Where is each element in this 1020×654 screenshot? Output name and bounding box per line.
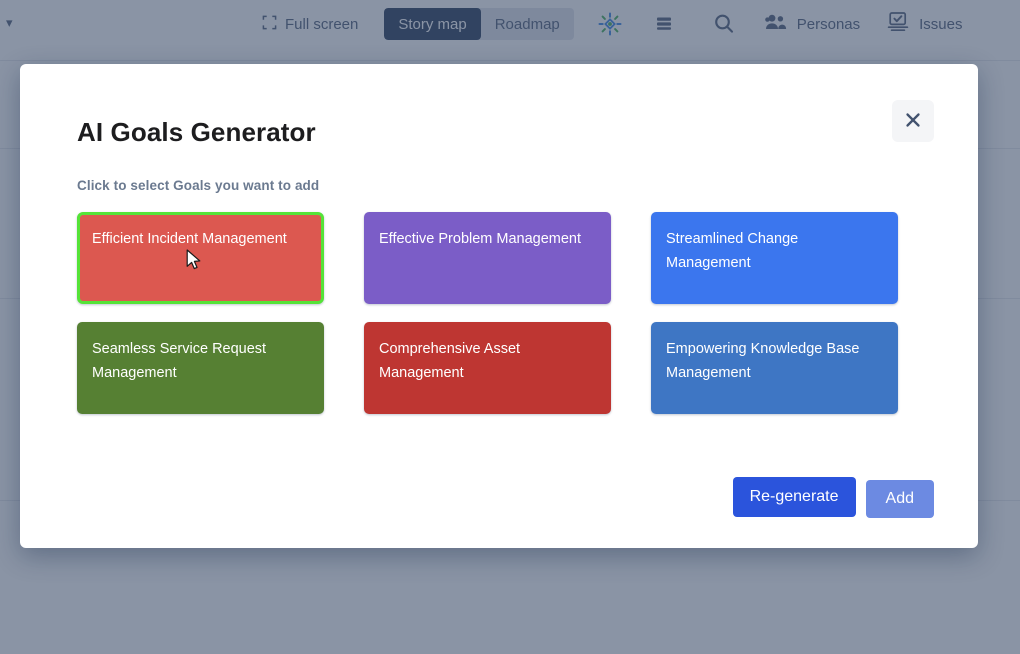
dialog-footer: Re-generate Add (733, 477, 934, 518)
goal-card-label: Empowering Knowledge Base Management (666, 337, 881, 385)
ai-goals-generator-dialog: AI Goals Generator Click to select Goals… (20, 64, 978, 548)
goal-card[interactable]: Effective Problem Management (364, 212, 611, 304)
goal-card-label: Efficient Incident Management (92, 227, 307, 251)
goal-card[interactable]: Empowering Knowledge Base Management (651, 322, 898, 414)
goal-card-label: Seamless Service Request Management (92, 337, 307, 385)
goal-card[interactable]: Seamless Service Request Management (77, 322, 324, 414)
goal-card-label: Comprehensive Asset Management (379, 337, 594, 385)
add-button[interactable]: Add (866, 480, 934, 518)
goal-card[interactable]: Comprehensive Asset Management (364, 322, 611, 414)
close-button[interactable] (892, 100, 934, 142)
close-icon (903, 110, 923, 133)
goal-card[interactable]: Streamlined Change Management (651, 212, 898, 304)
goal-card[interactable]: Efficient Incident Management (77, 212, 324, 304)
goal-card-label: Streamlined Change Management (666, 227, 881, 275)
re-generate-button[interactable]: Re-generate (733, 477, 856, 517)
goal-cards-grid: Efficient Incident Management Effective … (77, 212, 917, 414)
goal-card-label: Effective Problem Management (379, 227, 594, 251)
dialog-title: AI Goals Generator (77, 117, 316, 148)
selection-hint: Click to select Goals you want to add (77, 178, 319, 193)
